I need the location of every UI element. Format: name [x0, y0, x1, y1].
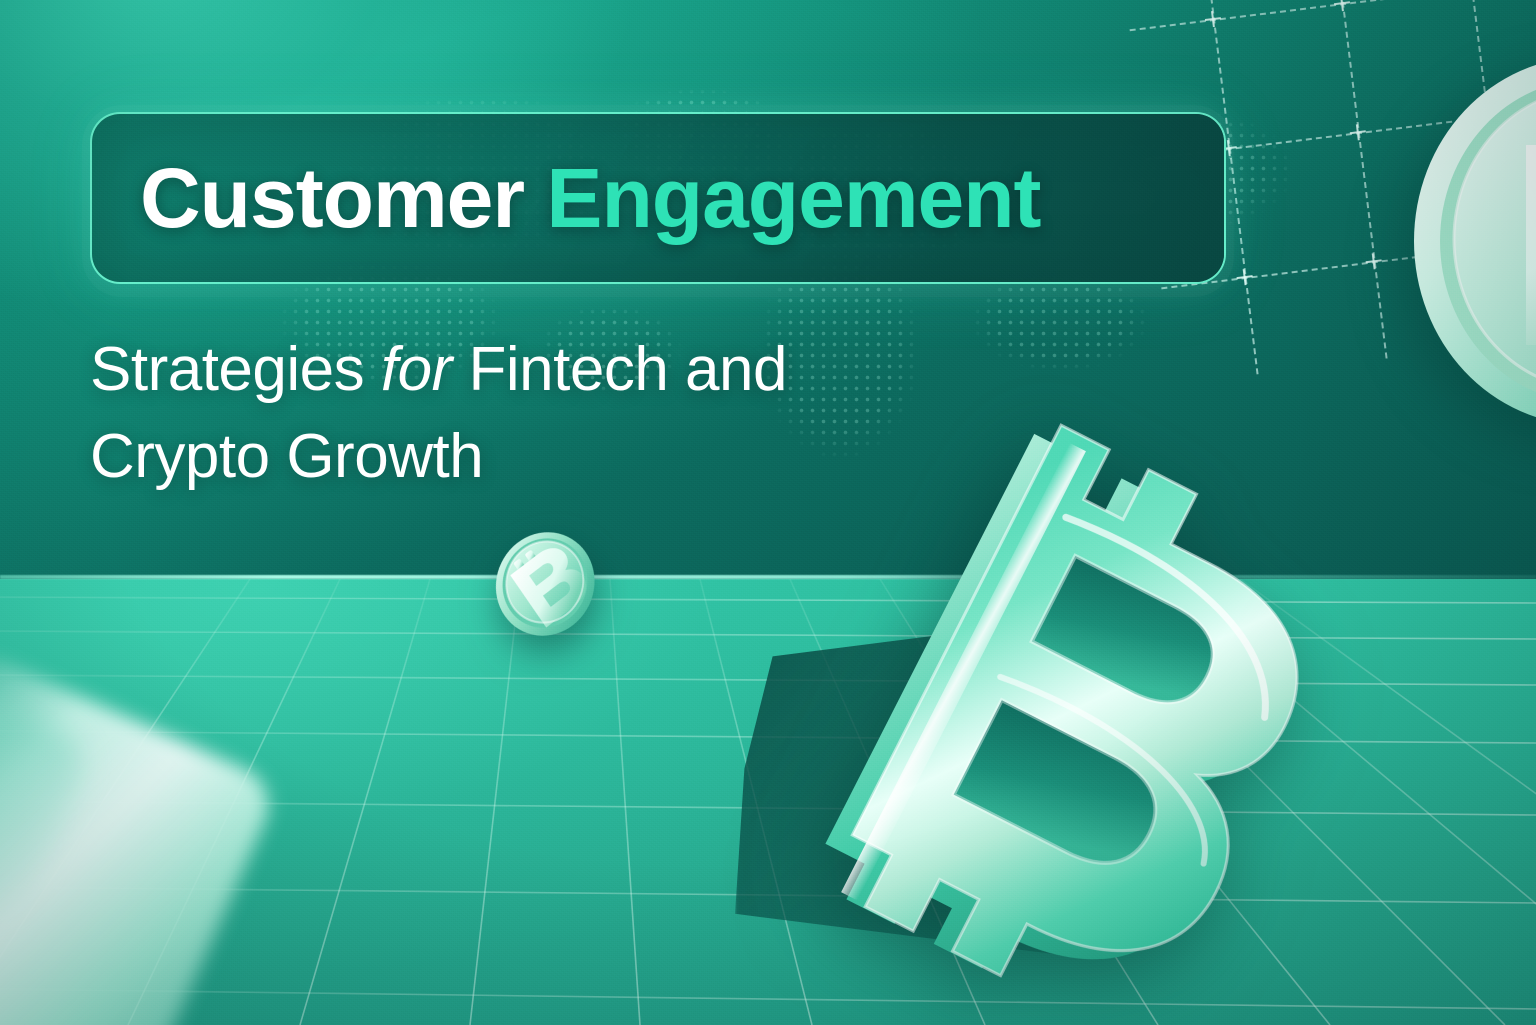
subtitle-line-2: Crypto Growth	[90, 422, 483, 491]
subtitle-line-1-italic: for	[381, 335, 452, 404]
bitcoin-coin-large-icon	[1408, 55, 1536, 427]
page-title: Customer Engagement	[140, 156, 1041, 240]
subtitle-line-1-b: Fintech and	[468, 335, 787, 404]
title-badge: Customer Engagement	[90, 112, 1226, 284]
page-title-part-1: Customer	[140, 151, 524, 245]
page-title-part-2: Engagement	[546, 151, 1040, 245]
hero-banner: Customer Engagement Strategies for Finte…	[0, 0, 1536, 1025]
subtitle-line-1-a: Strategies	[90, 335, 364, 404]
page-subtitle: Strategies for Fintech and Crypto Growth	[90, 327, 1070, 501]
